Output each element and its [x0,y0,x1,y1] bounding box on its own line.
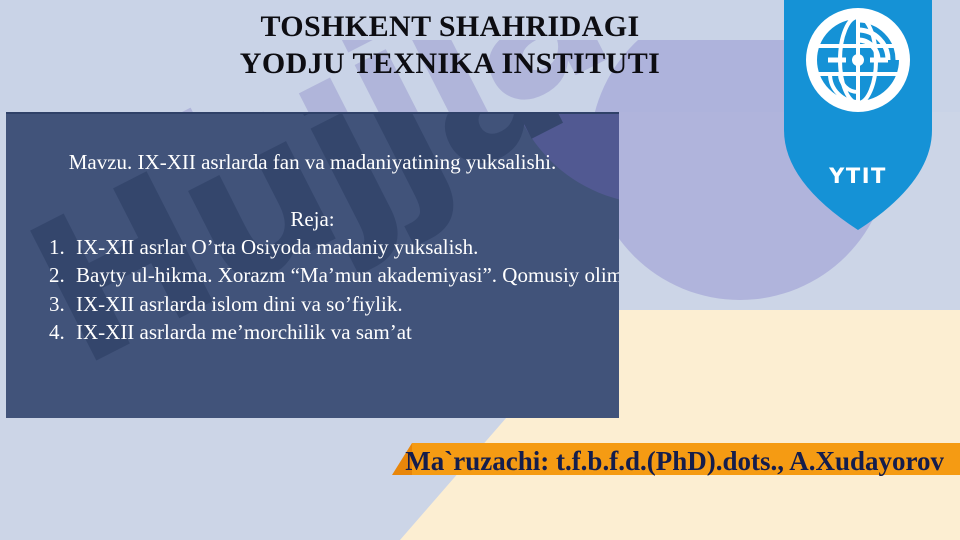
list-item: IX-XII asrlarda me’morchilik va sam’at [70,319,619,346]
list-item: IX-XII asrlar O’rta Osiyoda madaniy yuks… [70,234,619,261]
page-title-line-2: YODJU TEXNIKA INSTITUTI [0,45,900,82]
plan-list: IX-XII asrlar O’rta Osiyoda madaniy yuks… [32,234,619,347]
institute-logo: YTIT [784,0,932,232]
content-panel: Hujjat24 Mavzu. IX-XII asrlarda fan va m… [6,112,619,418]
presenter-text: Ma`ruzachi: t.f.b.f.d.(PhD).dots., A.Xud… [0,446,952,477]
page-title-line-1: TOSHKENT SHAHRIDAGI [0,8,900,45]
list-item: Bayty ul-hikma. Xorazm “Ma’mun akademiya… [70,262,619,289]
topic-heading: Mavzu. IX-XII asrlarda fan va madaniyati… [6,150,619,175]
plan-label: Reja: [6,207,619,232]
logo-label: YTIT [784,164,932,188]
list-item: IX-XII asrlarda islom dini va so’fiylik. [70,291,619,318]
shield-icon [784,0,932,232]
slide-canvas: Hujjat24 TOSHKENT SHAHRIDAGI YODJU TEXNI… [0,0,960,540]
page-title: TOSHKENT SHAHRIDAGI YODJU TEXNIKA INSTIT… [0,8,900,82]
globe-radar-emblem-icon [806,8,910,112]
